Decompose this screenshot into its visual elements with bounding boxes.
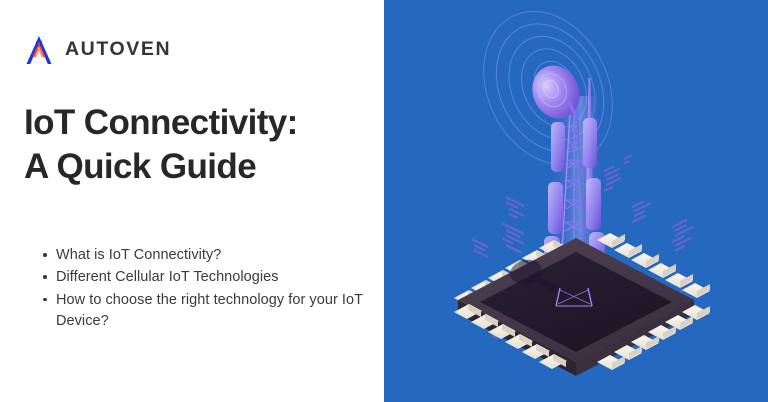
list-item: How to choose the right technology for y… [56, 290, 376, 333]
content-panel: AUTOVEN IoT Connectivity: A Quick Guide … [0, 0, 384, 402]
blog-header-banner: AUTOVEN IoT Connectivity: A Quick Guide … [0, 0, 768, 402]
list-item: Different Cellular IoT Technologies [56, 267, 376, 288]
page-title: IoT Connectivity: A Quick Guide [24, 101, 298, 189]
list-item: What is IoT Connectivity? [56, 245, 376, 266]
topic-list: What is IoT Connectivity? Different Cell… [40, 245, 376, 333]
iot-cell-tower-on-microchip-illustration [384, 0, 768, 402]
illustration-panel [384, 0, 768, 402]
brand-logo[interactable]: AUTOVEN [24, 34, 171, 66]
brand-name: AUTOVEN [65, 40, 171, 60]
autoven-peak-logo-icon [24, 34, 54, 66]
